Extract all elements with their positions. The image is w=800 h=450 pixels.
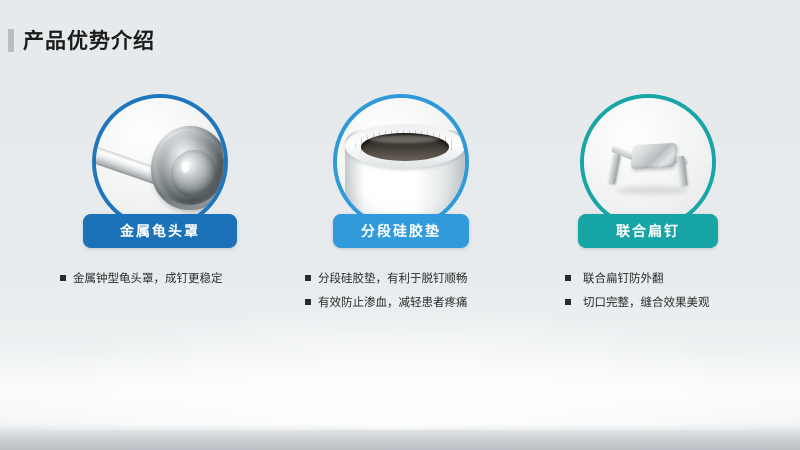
bullet-list-2: 分段硅胶垫，有利于脱钉顺畅 有效防止渗血，减轻患者疼痛 bbox=[305, 270, 555, 318]
list-item-text: 金属钟型龟头罩，成钉更稳定 bbox=[73, 270, 223, 286]
photo-backdrop bbox=[96, 98, 224, 226]
combined-flat-staple-photo bbox=[580, 94, 716, 230]
list-item: 有效防止渗血，减轻患者疼痛 bbox=[305, 294, 555, 310]
bullet-list-1: 金属钟型龟头罩，成钉更稳定 bbox=[60, 270, 310, 294]
segmented-silicone-pad-photo bbox=[333, 94, 469, 230]
page-title: 产品优势介绍 bbox=[8, 26, 155, 54]
list-item: 联合扁钉防外翻 bbox=[565, 270, 800, 286]
list-item: 金属钟型龟头罩，成钉更稳定 bbox=[60, 270, 310, 286]
staple-drop-shadow bbox=[616, 186, 688, 195]
badge-label-1[interactable]: 金属龟头罩 bbox=[83, 214, 237, 248]
square-bullet-icon bbox=[305, 299, 311, 305]
device-specular-highlight bbox=[181, 161, 189, 173]
floor-shadow bbox=[0, 424, 800, 450]
square-bullet-icon bbox=[565, 299, 571, 305]
feature-image-wrap-3 bbox=[580, 94, 716, 230]
device-bell-rim-shape bbox=[155, 131, 225, 205]
list-item-text: 分段硅胶垫，有利于脱钉顺畅 bbox=[318, 270, 468, 286]
feature-image-wrap-1 bbox=[92, 94, 228, 230]
staple-group bbox=[606, 138, 698, 196]
device-bell-dome-shape bbox=[171, 150, 217, 198]
square-bullet-icon bbox=[305, 275, 311, 281]
silicone-pad-bore-highlight bbox=[369, 135, 439, 143]
title-accent-bar bbox=[8, 29, 14, 52]
bullet-list-3: 联合扁钉防外翻 切口完整，缝合效果美观 bbox=[565, 270, 800, 318]
list-item: 分段硅胶垫，有利于脱钉顺畅 bbox=[305, 270, 555, 286]
list-item: 切口完整，缝合效果美观 bbox=[565, 294, 800, 310]
slide-canvas: 产品优势介绍 bbox=[0, 0, 800, 450]
photo-backdrop bbox=[337, 98, 465, 226]
feature-card-1[interactable]: 金属龟头罩 bbox=[35, 88, 285, 338]
title-text: 产品优势介绍 bbox=[23, 25, 155, 55]
metal-bell-glans-cap-photo bbox=[92, 94, 228, 230]
badge-label-3[interactable]: 联合扁钉 bbox=[578, 214, 718, 248]
list-item-text: 有效防止渗血，减轻患者疼痛 bbox=[318, 294, 468, 310]
device-bell-shape bbox=[151, 126, 228, 210]
feature-image-wrap-2 bbox=[333, 94, 469, 230]
square-bullet-icon bbox=[565, 275, 571, 281]
staple-leg-left bbox=[607, 154, 621, 185]
square-bullet-icon bbox=[60, 275, 66, 281]
staple-crown-plate bbox=[631, 143, 678, 169]
photo-backdrop bbox=[584, 98, 712, 226]
list-item-text: 切口完整，缝合效果美观 bbox=[583, 294, 710, 310]
list-item-text: 联合扁钉防外翻 bbox=[583, 270, 664, 286]
badge-label-2[interactable]: 分段硅胶垫 bbox=[333, 214, 469, 248]
